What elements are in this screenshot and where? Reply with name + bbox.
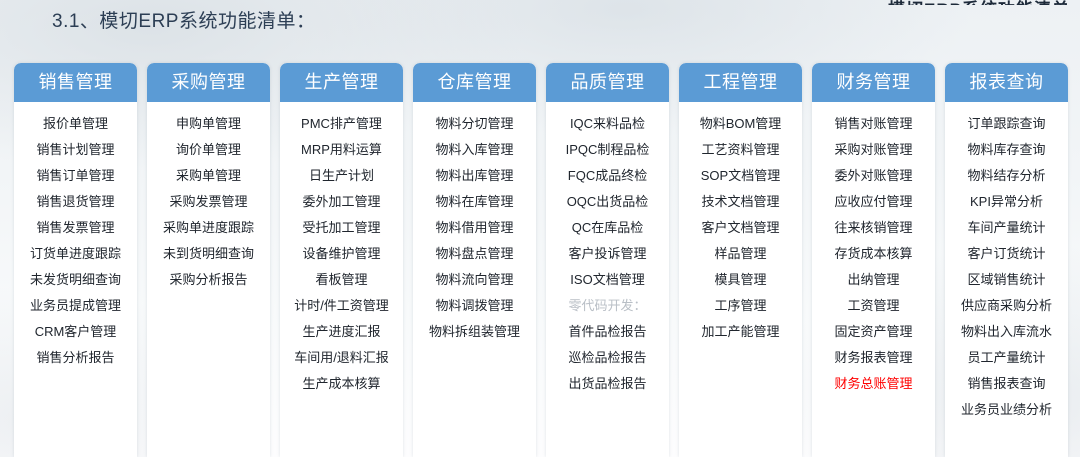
module-feature-item[interactable]: 物料在库管理 [413,189,536,215]
module-feature-item[interactable]: 区域销售统计 [945,267,1068,293]
module-feature-item[interactable]: 固定资产管理 [812,319,935,345]
module-feature-item[interactable]: 销售发票管理 [14,215,137,241]
module-feature-item[interactable]: 业务员业绩分析 [945,397,1068,423]
module-feature-item[interactable]: 询价单管理 [147,137,270,163]
module-card-header[interactable]: 采购管理 [147,63,270,102]
module-feature-item[interactable]: 物料分切管理 [413,111,536,137]
module-card-header[interactable]: 仓库管理 [413,63,536,102]
module-feature-item[interactable]: 采购发票管理 [147,189,270,215]
module-feature-item[interactable]: 委外加工管理 [280,189,403,215]
module-feature-item[interactable]: 销售计划管理 [14,137,137,163]
module-card: 仓库管理物料分切管理物料入库管理物料出库管理物料在库管理物料借用管理物料盘点管理… [413,63,536,457]
module-card-body: 物料分切管理物料入库管理物料出库管理物料在库管理物料借用管理物料盘点管理物料流向… [413,102,536,353]
module-feature-item[interactable]: 受托加工管理 [280,215,403,241]
function-list-grid: 销售管理报价单管理销售计划管理销售订单管理销售退货管理销售发票管理订货单进度跟踪… [14,63,1071,457]
module-feature-item[interactable]: 财务总账管理 [812,371,935,397]
module-feature-item[interactable]: 模具管理 [679,267,802,293]
module-card-header[interactable]: 报表查询 [945,63,1068,102]
module-feature-item[interactable]: 巡检品检报告 [546,345,669,371]
module-feature-item[interactable]: 业务员提成管理 [14,293,137,319]
module-feature-item[interactable]: 供应商采购分析 [945,293,1068,319]
module-card: 采购管理申购单管理询价单管理采购单管理采购发票管理采购单进度跟踪未到货明细查询采… [147,63,270,457]
module-feature-item[interactable]: ISO文档管理 [546,267,669,293]
module-subheading: 零代码开发： [546,293,669,319]
module-card-body: 申购单管理询价单管理采购单管理采购发票管理采购单进度跟踪未到货明细查询采购分析报… [147,102,270,301]
module-card-body: 物料BOM管理工艺资料管理SOP文档管理技术文档管理客户文档管理样品管理模具管理… [679,102,802,353]
module-feature-item[interactable]: 采购分析报告 [147,267,270,293]
module-feature-item[interactable]: 看板管理 [280,267,403,293]
page-title: 3.1、模切ERP系统功能清单： [52,6,315,33]
module-card: 生产管理PMC排产管理MRP用料运算日生产计划委外加工管理受托加工管理设备维护管… [280,63,403,457]
module-card-header[interactable]: 工程管理 [679,63,802,102]
module-feature-item[interactable]: 财务报表管理 [812,345,935,371]
module-feature-item[interactable]: 员工产量统计 [945,345,1068,371]
module-feature-item[interactable]: KPI异常分析 [945,189,1068,215]
module-feature-item[interactable]: PMC排产管理 [280,111,403,137]
module-card: 销售管理报价单管理销售计划管理销售订单管理销售退货管理销售发票管理订货单进度跟踪… [14,63,137,457]
module-feature-item[interactable]: 技术文档管理 [679,189,802,215]
module-card-header[interactable]: 财务管理 [812,63,935,102]
module-card-body: 销售对账管理采购对账管理委外对账管理应收应付管理往来核销管理存货成本核算出纳管理… [812,102,935,405]
module-feature-item[interactable]: 订单跟踪查询 [945,111,1068,137]
slide-canvas: 模切ERP系统功能清单 3.1、模切ERP系统功能清单： 销售管理报价单管理销售… [0,0,1080,457]
module-card-body: IQC来料品检IPQC制程品检FQC成品终检OQC出货品检QC在库品检客户投诉管… [546,102,669,405]
module-feature-item[interactable]: 设备维护管理 [280,241,403,267]
module-feature-item[interactable]: 首件品检报告 [546,319,669,345]
module-feature-item[interactable]: 工艺资料管理 [679,137,802,163]
module-feature-item[interactable]: 销售分析报告 [14,345,137,371]
module-feature-item[interactable]: 客户投诉管理 [546,241,669,267]
module-card: 工程管理物料BOM管理工艺资料管理SOP文档管理技术文档管理客户文档管理样品管理… [679,63,802,457]
module-feature-item[interactable]: IPQC制程品检 [546,137,669,163]
module-feature-item[interactable]: 计时/件工资管理 [280,293,403,319]
module-card-header[interactable]: 销售管理 [14,63,137,102]
module-feature-item[interactable]: 物料出入库流水 [945,319,1068,345]
module-card-body: 报价单管理销售计划管理销售订单管理销售退货管理销售发票管理订货单进度跟踪未发货明… [14,102,137,379]
module-feature-item[interactable]: 客户文档管理 [679,215,802,241]
module-feature-item[interactable]: 加工产能管理 [679,319,802,345]
module-feature-item[interactable]: 日生产计划 [280,163,403,189]
module-feature-item[interactable]: 生产进度汇报 [280,319,403,345]
module-feature-item[interactable]: 物料调拨管理 [413,293,536,319]
module-feature-item[interactable]: OQC出货品检 [546,189,669,215]
module-feature-item[interactable]: 物料出库管理 [413,163,536,189]
module-feature-item[interactable]: 采购单进度跟踪 [147,215,270,241]
module-feature-item[interactable]: 往来核销管理 [812,215,935,241]
module-feature-item[interactable]: 物料拆组装管理 [413,319,536,345]
module-feature-item[interactable]: 物料借用管理 [413,215,536,241]
module-feature-item[interactable]: 订货单进度跟踪 [14,241,137,267]
module-feature-item[interactable]: FQC成品终检 [546,163,669,189]
module-feature-item[interactable]: 出纳管理 [812,267,935,293]
module-feature-item[interactable]: 工资管理 [812,293,935,319]
module-feature-item[interactable]: 存货成本核算 [812,241,935,267]
module-card-body: PMC排产管理MRP用料运算日生产计划委外加工管理受托加工管理设备维护管理看板管… [280,102,403,405]
module-card-body: 订单跟踪查询物料库存查询物料结存分析KPI异常分析车间产量统计客户订货统计区域销… [945,102,1068,431]
module-feature-item[interactable]: 未发货明细查询 [14,267,137,293]
module-feature-item[interactable]: 样品管理 [679,241,802,267]
cut-off-header-text: 模切ERP系统功能清单 [888,0,1070,5]
module-feature-item[interactable]: 未到货明细查询 [147,241,270,267]
module-card: 品质管理IQC来料品检IPQC制程品检FQC成品终检OQC出货品检QC在库品检客… [546,63,669,457]
module-feature-item[interactable]: 工序管理 [679,293,802,319]
module-card: 报表查询订单跟踪查询物料库存查询物料结存分析KPI异常分析车间产量统计客户订货统… [945,63,1068,457]
module-feature-item[interactable]: 销售报表查询 [945,371,1068,397]
module-feature-item[interactable]: 销售对账管理 [812,111,935,137]
module-feature-item[interactable]: 采购对账管理 [812,137,935,163]
module-feature-item[interactable]: MRP用料运算 [280,137,403,163]
module-feature-item[interactable]: 物料入库管理 [413,137,536,163]
module-feature-item[interactable]: SOP文档管理 [679,163,802,189]
module-feature-item[interactable]: 申购单管理 [147,111,270,137]
module-feature-item[interactable]: CRM客户管理 [14,319,137,345]
module-feature-item[interactable]: QC在库品检 [546,215,669,241]
module-feature-item[interactable]: 物料流向管理 [413,267,536,293]
module-feature-item[interactable]: 销售订单管理 [14,163,137,189]
module-feature-item[interactable]: 委外对账管理 [812,163,935,189]
module-feature-item[interactable]: 生产成本核算 [280,371,403,397]
module-card-header[interactable]: 品质管理 [546,63,669,102]
module-feature-item[interactable]: 出货品检报告 [546,371,669,397]
module-feature-item[interactable]: 物料BOM管理 [679,111,802,137]
module-feature-item[interactable]: 销售退货管理 [14,189,137,215]
module-card: 财务管理销售对账管理采购对账管理委外对账管理应收应付管理往来核销管理存货成本核算… [812,63,935,457]
module-card-header[interactable]: 生产管理 [280,63,403,102]
module-feature-item[interactable]: 物料库存查询 [945,137,1068,163]
module-feature-item[interactable]: 物料结存分析 [945,163,1068,189]
module-feature-item[interactable]: 采购单管理 [147,163,270,189]
module-feature-item[interactable]: 报价单管理 [14,111,137,137]
module-feature-item[interactable]: 车间产量统计 [945,215,1068,241]
module-feature-item[interactable]: 物料盘点管理 [413,241,536,267]
module-feature-item[interactable]: 车间用/退料汇报 [280,345,403,371]
module-feature-item[interactable]: 应收应付管理 [812,189,935,215]
module-feature-item[interactable]: 客户订货统计 [945,241,1068,267]
module-feature-item[interactable]: IQC来料品检 [546,111,669,137]
